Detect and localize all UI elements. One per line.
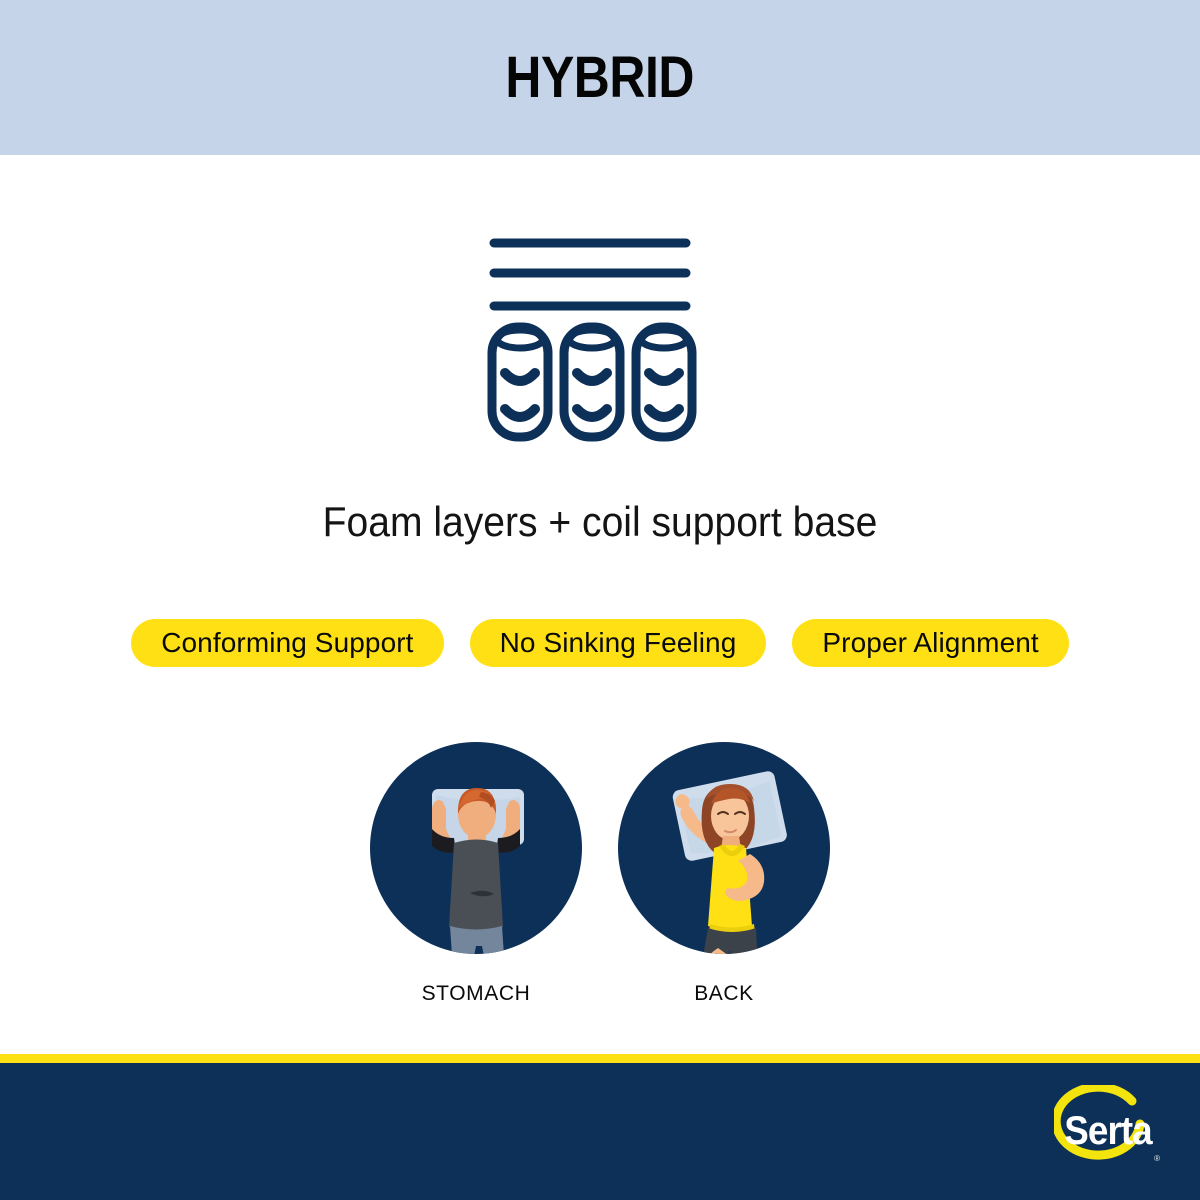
head [458,788,496,838]
sleep-position-label: BACK [694,982,754,1006]
feature-pill-conforming-support[interactable]: Conforming Support [131,619,443,667]
footer-bar: Serta ® [0,1063,1200,1200]
feature-pill-label: Conforming Support [161,627,413,659]
back-sleeper-circle [618,742,830,954]
header-band: HYBRID [0,0,1200,155]
feature-pill-label: No Sinking Feeling [500,627,737,659]
shorts [450,926,505,954]
feature-pill-proper-alignment[interactable]: Proper Alignment [792,619,1068,667]
serta-logo-ring-icon [1054,1085,1162,1177]
torso [449,840,503,931]
page-title: HYBRID [506,49,695,107]
back-sleeper-illustration [618,742,830,954]
stomach-sleeper-circle [370,742,582,954]
footer-accent-stripe [0,1054,1200,1063]
serta-logo[interactable]: Serta ® [1054,1085,1162,1177]
hybrid-icon-container [0,215,1200,445]
sleep-position-row: STOMACH [0,742,1200,1006]
support-coil-1 [492,327,548,437]
registered-trademark-mark: ® [1154,1154,1160,1163]
sleep-position-back[interactable]: BACK [618,742,830,1006]
feature-pill-label: Proper Alignment [822,627,1038,659]
support-coil-3 [636,327,692,437]
support-coil-2 [564,327,620,437]
feature-pill-row: Conforming Support No Sinking Feeling Pr… [0,619,1200,667]
sleep-position-label: STOMACH [422,982,531,1006]
feature-pill-no-sinking-feeling[interactable]: No Sinking Feeling [470,619,767,667]
hybrid-mattress-card: HYBRID [0,0,1200,1200]
hybrid-mattress-icon [480,215,720,445]
tagline: Foam layers + coil support base [42,498,1158,546]
stomach-sleeper-illustration [370,742,582,954]
sleep-position-stomach[interactable]: STOMACH [370,742,582,1006]
